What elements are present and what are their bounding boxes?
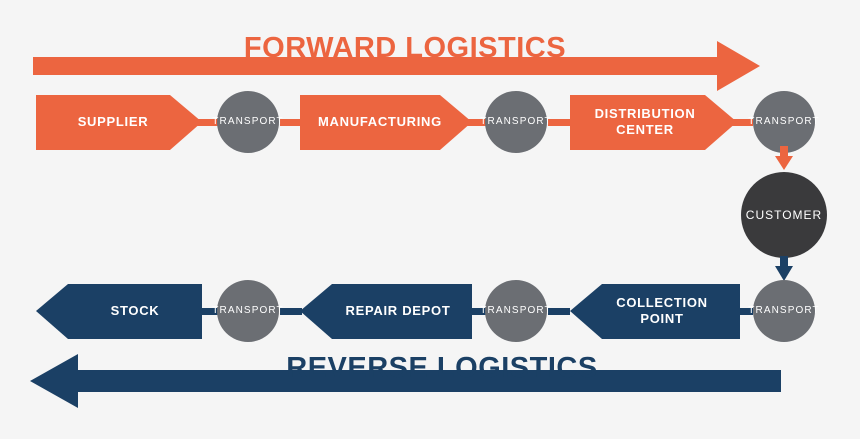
transport-circle-forward-2[interactable] bbox=[485, 91, 547, 153]
stage-repair-depot[interactable] bbox=[300, 284, 472, 339]
arrow-down-to-return-transport-icon bbox=[775, 256, 793, 281]
transport-circle-reverse-1[interactable] bbox=[217, 280, 279, 342]
transport-circle-reverse-2[interactable] bbox=[485, 280, 547, 342]
transport-circle-reverse-3[interactable] bbox=[753, 280, 815, 342]
reverse-logistics-title: REVERSE LOGISTICS bbox=[0, 352, 860, 385]
stage-distribution-center[interactable] bbox=[570, 95, 737, 150]
stage-stock[interactable] bbox=[36, 284, 202, 339]
node-customer[interactable] bbox=[741, 172, 827, 258]
stage-collection-point[interactable] bbox=[570, 284, 740, 339]
transport-circle-forward-1[interactable] bbox=[217, 91, 279, 153]
transport-circle-forward-3[interactable] bbox=[753, 91, 815, 153]
forward-logistics-title: FORWARD LOGISTICS bbox=[0, 32, 860, 65]
stage-manufacturing[interactable] bbox=[300, 95, 472, 150]
logistics-diagram: FORWARD LOGISTICS SUPPLIER MANUFACTURING… bbox=[0, 0, 860, 439]
stage-supplier[interactable] bbox=[36, 95, 202, 150]
